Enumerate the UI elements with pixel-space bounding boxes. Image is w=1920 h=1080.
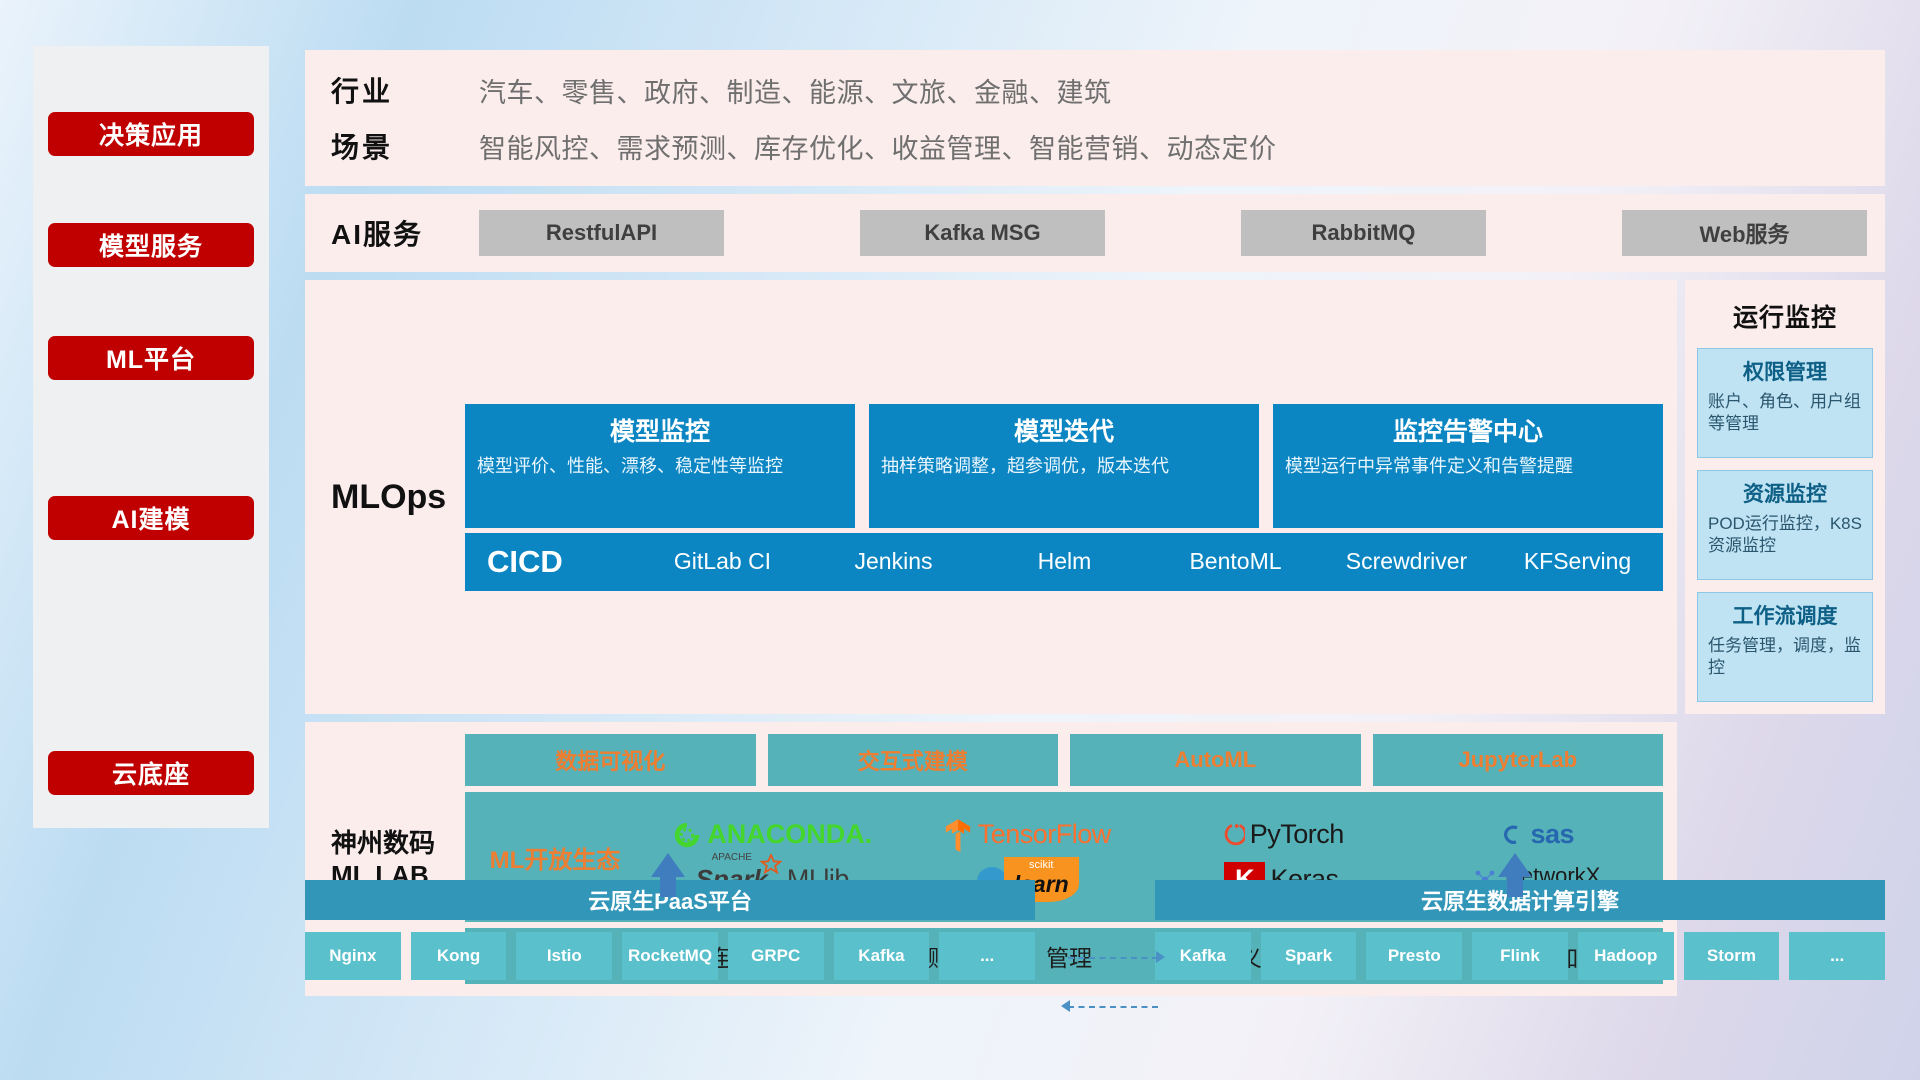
paas-chip-grpc[interactable]: GRPC — [728, 932, 824, 980]
spark-star-icon — [760, 854, 782, 876]
compute-chip-spark[interactable]: Spark — [1261, 932, 1357, 980]
rail-item-cloud-base[interactable]: 云底座 — [48, 751, 254, 795]
mlops-card-model-monitoring[interactable]: 模型监控 模型评价、性能、漂移、稳定性等监控 — [465, 404, 855, 528]
industry-key: 行业 — [331, 70, 479, 110]
card-desc: 账户、角色、用户组等管理 — [1708, 391, 1862, 435]
paas-chip-kafka[interactable]: Kafka — [834, 932, 930, 980]
cicd-item-screwdriver[interactable]: Screwdriver — [1321, 548, 1492, 574]
compute-chip-presto[interactable]: Presto — [1366, 932, 1462, 980]
cloud-foundation: 云原生PaaS平台 Nginx Kong Istio RocketMQ GRPC… — [305, 880, 1885, 980]
apache-label: APACHE — [712, 852, 752, 863]
mlops-card-alert-center[interactable]: 监控告警中心 模型运行中异常事件定义和告警提醒 — [1273, 404, 1663, 528]
industry-value: 汽车、零售、政府、制造、能源、文旅、金融、建筑 — [479, 71, 1112, 110]
rail-item-model-service[interactable]: 模型服务 — [48, 223, 254, 267]
diagram-canvas: 决策应用 模型服务 ML平台 AI建模 云底座 行业 汽车、零售、政府、制造、能… — [0, 0, 1920, 1080]
chip-label: Kafka MSG — [924, 220, 1040, 246]
rail-label: 决策应用 — [99, 116, 203, 152]
anaconda-logo: ANACONDA. — [672, 819, 872, 850]
tensorflow-wordmark: TensorFlow — [978, 819, 1111, 850]
anaconda-wordmark: ANACONDA. — [707, 819, 872, 850]
cicd-item-kfserving[interactable]: KFServing — [1492, 548, 1663, 574]
tensorflow-icon — [943, 818, 973, 852]
cicd-item-bentoml[interactable]: BentoML — [1150, 548, 1321, 574]
bidirectional-link-top-arrow — [1156, 951, 1165, 963]
paas-arrow-head — [651, 853, 685, 877]
cicd-item-gitlab-ci[interactable]: GitLab CI — [637, 548, 808, 574]
card-desc: 抽样策略调整，超参调优，版本迭代 — [881, 455, 1247, 479]
scenario-row: 场景 智能风控、需求预测、库存优化、收益管理、智能营销、动态定价 — [331, 126, 1867, 166]
runtime-monitor-column: 运行监控 权限管理 账户、角色、用户组等管理 资源监控 POD运行监控，K8S资… — [1685, 280, 1885, 714]
industry-row: 行业 汽车、零售、政府、制造、能源、文旅、金融、建筑 — [331, 70, 1867, 110]
rail-label: ML平台 — [106, 340, 196, 376]
rail-label: 云底座 — [112, 755, 190, 791]
bidirectional-link-top — [1068, 957, 1158, 959]
mlops-key: MLOps — [331, 478, 465, 517]
lab-tab-jupyterlab[interactable]: JupyterLab — [1373, 734, 1664, 786]
mlops-band: MLOps 模型监控 模型评价、性能、漂移、稳定性等监控 模型迭代 抽样策略调整… — [305, 280, 1677, 714]
sas-icon — [1497, 821, 1525, 849]
mlops-row: MLOps 模型监控 模型评价、性能、漂移、稳定性等监控 模型迭代 抽样策略调整… — [305, 280, 1885, 714]
mlops-card-model-iteration[interactable]: 模型迭代 抽样策略调整，超参调优，版本迭代 — [869, 404, 1259, 528]
service-chip-web-service[interactable]: Web服务 — [1622, 210, 1867, 256]
industry-scenario-band: 行业 汽车、零售、政府、制造、能源、文旅、金融、建筑 场景 智能风控、需求预测、… — [305, 50, 1885, 186]
pytorch-logo: PyTorch — [1219, 819, 1344, 850]
cicd-title: CICD — [487, 544, 637, 580]
compute-chip-kafka[interactable]: Kafka — [1155, 932, 1251, 980]
scenario-value: 智能风控、需求预测、库存优化、收益管理、智能营销、动态定价 — [479, 127, 1277, 166]
runtime-monitor-title: 运行监控 — [1697, 298, 1873, 334]
rail-label: 模型服务 — [99, 227, 203, 263]
monitor-card-permission[interactable]: 权限管理 账户、角色、用户组等管理 — [1697, 348, 1873, 458]
rail-item-ai-modeling[interactable]: AI建模 — [48, 496, 254, 540]
scenario-key: 场景 — [331, 126, 479, 166]
card-desc: POD运行监控，K8S资源监控 — [1708, 513, 1862, 557]
cicd-item-jenkins[interactable]: Jenkins — [808, 548, 979, 574]
chip-label: Web服务 — [1699, 217, 1789, 249]
rail-item-decision-app[interactable]: 决策应用 — [48, 112, 254, 156]
card-desc: 模型运行中异常事件定义和告警提醒 — [1285, 455, 1651, 479]
card-title: 监控告警中心 — [1285, 412, 1651, 448]
ai-service-key: AI服务 — [331, 213, 479, 253]
paas-chip-more[interactable]: ... — [939, 932, 1035, 980]
monitor-card-resource[interactable]: 资源监控 POD运行监控，K8S资源监控 — [1697, 470, 1873, 580]
lab-tab-data-visualization[interactable]: 数据可视化 — [465, 734, 756, 786]
pytorch-wordmark: PyTorch — [1250, 819, 1344, 850]
pytorch-icon — [1219, 820, 1245, 850]
compute-chip-flink[interactable]: Flink — [1472, 932, 1568, 980]
main-board: 行业 汽车、零售、政府、制造、能源、文旅、金融、建筑 场景 智能风控、需求预测、… — [305, 50, 1885, 996]
service-chip-restfulapi[interactable]: RestfulAPI — [479, 210, 724, 256]
paas-chip-rocketmq[interactable]: RocketMQ — [622, 932, 718, 980]
card-title: 模型迭代 — [881, 412, 1247, 448]
service-chip-kafka-msg[interactable]: Kafka MSG — [860, 210, 1105, 256]
anaconda-icon — [672, 820, 702, 850]
compute-chip-hadoop[interactable]: Hadoop — [1578, 932, 1674, 980]
scikit-word: scikit — [1014, 859, 1069, 871]
card-title: 工作流调度 — [1708, 600, 1862, 630]
tensorflow-logo: TensorFlow — [943, 818, 1111, 852]
sas-wordmark: sas — [1530, 819, 1574, 850]
ml-lab-key-line1: 神州数码 — [331, 827, 465, 860]
rail-item-ml-platform[interactable]: ML平台 — [48, 336, 254, 380]
lab-tab-automl[interactable]: AutoML — [1070, 734, 1361, 786]
cicd-bar: CICD GitLab CI Jenkins Helm BentoML Scre… — [465, 533, 1663, 591]
compute-chip-storm[interactable]: Storm — [1684, 932, 1780, 980]
lab-tab-interactive-modeling[interactable]: 交互式建模 — [768, 734, 1059, 786]
paas-chip-istio[interactable]: Istio — [516, 932, 612, 980]
chip-label: RabbitMQ — [1312, 220, 1416, 246]
card-title: 资源监控 — [1708, 478, 1862, 508]
paas-chip-nginx[interactable]: Nginx — [305, 932, 401, 980]
bidirectional-link-bottom-arrow — [1061, 1000, 1070, 1012]
monitor-card-workflow[interactable]: 工作流调度 任务管理，调度，监控 — [1697, 592, 1873, 702]
card-desc: 模型评价、性能、漂移、稳定性等监控 — [477, 455, 843, 479]
paas-chip-kong[interactable]: Kong — [411, 932, 507, 980]
card-desc: 任务管理，调度，监控 — [1708, 635, 1862, 679]
bidirectional-link-bottom — [1068, 1006, 1158, 1008]
chip-label: RestfulAPI — [546, 220, 657, 246]
card-title: 模型监控 — [477, 412, 843, 448]
sas-logo: sas — [1497, 819, 1574, 850]
left-rail: 决策应用 模型服务 ML平台 AI建模 云底座 — [33, 46, 269, 828]
compute-chip-more[interactable]: ... — [1789, 932, 1885, 980]
ai-service-band: AI服务 RestfulAPI Kafka MSG RabbitMQ Web服务 — [305, 194, 1885, 272]
cicd-item-helm[interactable]: Helm — [979, 548, 1150, 574]
ml-ecosystem-label: ML开放生态 — [465, 840, 645, 875]
card-title: 权限管理 — [1708, 356, 1862, 386]
compute-arrow-head — [1498, 853, 1532, 877]
rail-label: AI建模 — [111, 500, 190, 536]
service-chip-rabbitmq[interactable]: RabbitMQ — [1241, 210, 1486, 256]
